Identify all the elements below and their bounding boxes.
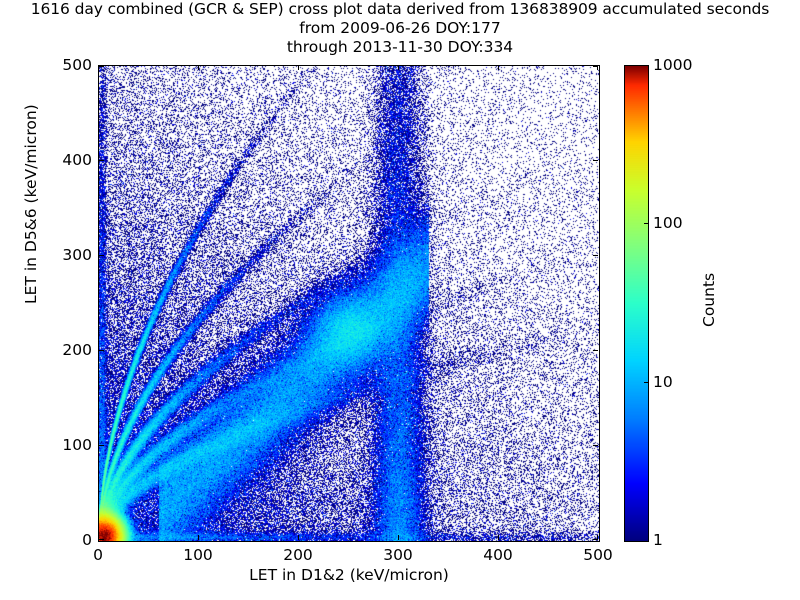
title-line-1: 1616 day combined (GCR & SEP) cross plot… xyxy=(0,0,800,19)
colorbar-gradient xyxy=(625,66,648,541)
x-ticklabel-400: 400 xyxy=(483,546,513,564)
y-tick-200 xyxy=(99,350,104,351)
colorbar-ticklabel-1000: 1000 xyxy=(653,56,692,74)
x-tick-300 xyxy=(398,535,399,540)
colorbar-tick-10 xyxy=(644,382,649,383)
plot-area xyxy=(98,65,600,542)
colorbar-tick-100 xyxy=(644,223,649,224)
y-ticklabel-500: 500 xyxy=(36,56,92,74)
y-ticklabel-400: 400 xyxy=(36,151,92,169)
x-ticklabel-0: 0 xyxy=(93,546,103,564)
y-tick-400 xyxy=(99,160,104,161)
colorbar xyxy=(624,65,649,542)
title-line-2: from 2009-06-26 DOY:177 xyxy=(0,19,800,38)
colorbar-ticklabel-100: 100 xyxy=(653,214,683,232)
x-tick-top-200 xyxy=(298,65,299,70)
y-tick-right-400 xyxy=(593,160,598,161)
y-tick-right-100 xyxy=(593,445,598,446)
y-ticklabel-0: 0 xyxy=(36,531,92,549)
colorbar-ticklabel-10: 10 xyxy=(653,373,673,391)
y-ticklabel-200: 200 xyxy=(36,341,92,359)
colorbar-label: Counts xyxy=(700,273,718,327)
y-tick-0 xyxy=(99,539,104,540)
title-line-3: through 2013-11-30 DOY:334 xyxy=(0,38,800,57)
figure-canvas: 1616 day combined (GCR & SEP) cross plot… xyxy=(0,0,800,600)
x-ticklabel-500: 500 xyxy=(583,546,613,564)
y-axis-label: LET in D5&6 (keV/micron) xyxy=(22,104,40,304)
x-ticklabel-200: 200 xyxy=(283,546,313,564)
x-tick-400 xyxy=(498,535,499,540)
y-tick-right-500 xyxy=(593,66,598,67)
figure-title: 1616 day combined (GCR & SEP) cross plot… xyxy=(0,0,800,57)
density-scatter-plot xyxy=(99,66,599,541)
x-tick-top-100 xyxy=(198,65,199,70)
y-tick-500 xyxy=(99,66,104,67)
x-tick-top-400 xyxy=(498,65,499,70)
colorbar-ticklabel-1: 1 xyxy=(653,531,663,549)
y-tick-right-200 xyxy=(593,350,598,351)
y-tick-100 xyxy=(99,445,104,446)
x-tick-200 xyxy=(298,535,299,540)
x-tick-top-300 xyxy=(398,65,399,70)
x-axis-label: LET in D1&2 (keV/micron) xyxy=(98,566,600,584)
y-ticklabel-300: 300 xyxy=(36,246,92,264)
y-tick-right-0 xyxy=(593,539,598,540)
y-ticklabel-100: 100 xyxy=(36,436,92,454)
y-tick-300 xyxy=(99,255,104,256)
x-tick-100 xyxy=(198,535,199,540)
x-ticklabel-300: 300 xyxy=(383,546,413,564)
x-ticklabel-100: 100 xyxy=(183,546,213,564)
y-tick-right-300 xyxy=(593,255,598,256)
